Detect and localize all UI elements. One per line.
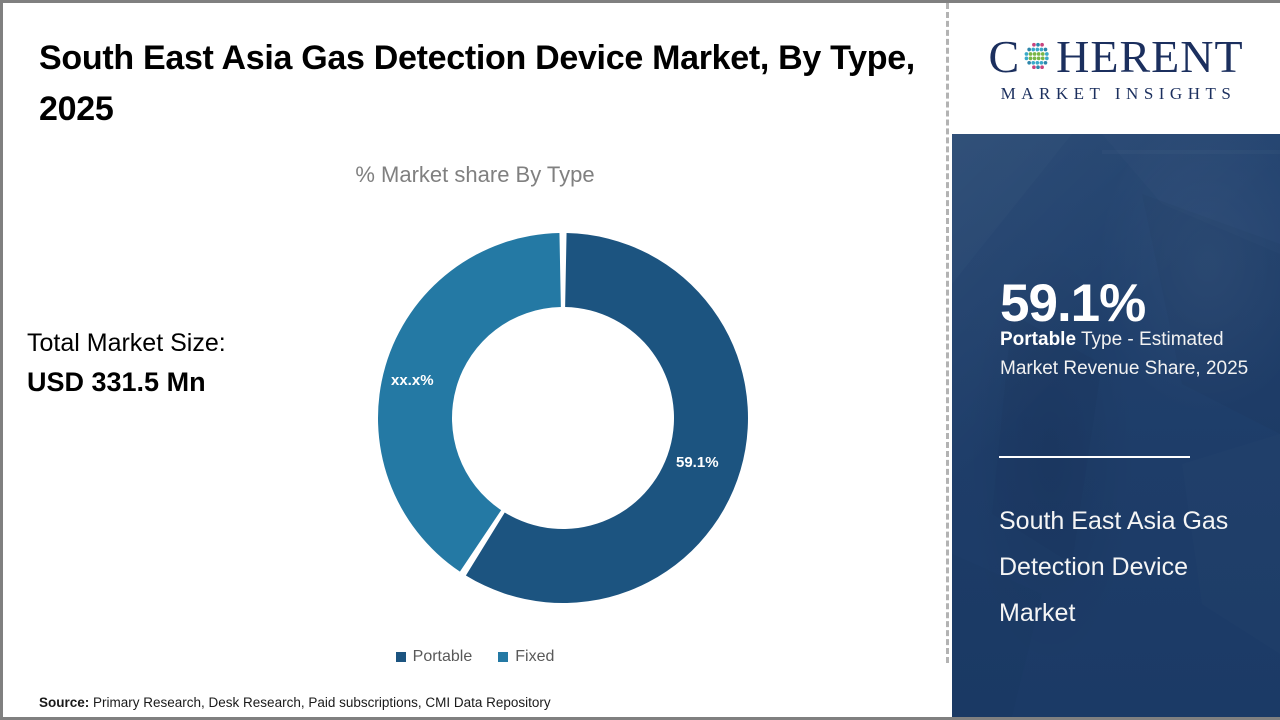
legend-swatch-portable <box>396 652 406 662</box>
legend-swatch-fixed <box>498 652 508 662</box>
infographic-page: South East Asia Gas Detection Device Mar… <box>0 0 1280 720</box>
globe-dots-icon <box>1021 40 1055 74</box>
chart-legend: Portable Fixed <box>3 648 947 666</box>
brand-tagline: MARKET INSIGHTS <box>996 84 1237 104</box>
donut-chart: xx.x% 59.1% <box>373 228 753 608</box>
legend-item-fixed[interactable]: Fixed <box>498 648 554 666</box>
highlight-percent: 59.1% <box>1000 277 1145 330</box>
highlight-panel: 59.1% Portable Type - Estimated Market R… <box>952 134 1280 717</box>
total-market-size-value: USD 331.5 Mn <box>27 363 327 402</box>
highlight-segment-name: Portable <box>1000 329 1076 350</box>
donut-label-fixed: xx.x% <box>391 372 434 389</box>
legend-item-portable[interactable]: Portable <box>396 648 473 666</box>
brand-logo[interactable]: C HERENT MARKET INSIGHTS <box>952 3 1280 134</box>
brand-side-panel: C HERENT MARKET INSIGHTS 59.1% Portable <box>952 3 1280 717</box>
total-market-size-label: Total Market Size: <box>27 325 327 363</box>
source-label: Source: <box>39 695 89 710</box>
highlight-divider <box>999 456 1190 458</box>
legend-label-portable: Portable <box>413 648 473 666</box>
donut-slice-fixed[interactable] <box>378 233 561 572</box>
donut-label-portable: 59.1% <box>676 454 719 471</box>
chart-subtitle: % Market share By Type <box>3 162 947 188</box>
donut-chart-svg <box>373 228 753 608</box>
brand-name-suffix: HERENT <box>1056 34 1243 80</box>
brand-name-prefix: C <box>988 34 1020 80</box>
source-text: Primary Research, Desk Research, Paid su… <box>89 695 550 710</box>
donut-slices <box>378 233 748 603</box>
panel-divider-dashed <box>946 3 949 663</box>
main-content-panel: South East Asia Gas Detection Device Mar… <box>3 3 947 717</box>
highlight-market-name: South East Asia Gas Detection Device Mar… <box>999 499 1249 636</box>
total-market-size-block: Total Market Size: USD 331.5 Mn <box>27 325 327 402</box>
legend-label-fixed: Fixed <box>515 648 554 666</box>
brand-wordmark: C HERENT <box>988 34 1243 80</box>
source-line: Source: Primary Research, Desk Research,… <box>39 695 551 710</box>
page-title: South East Asia Gas Detection Device Mar… <box>39 33 919 135</box>
highlight-description: Portable Type - Estimated Market Revenue… <box>1000 325 1266 383</box>
